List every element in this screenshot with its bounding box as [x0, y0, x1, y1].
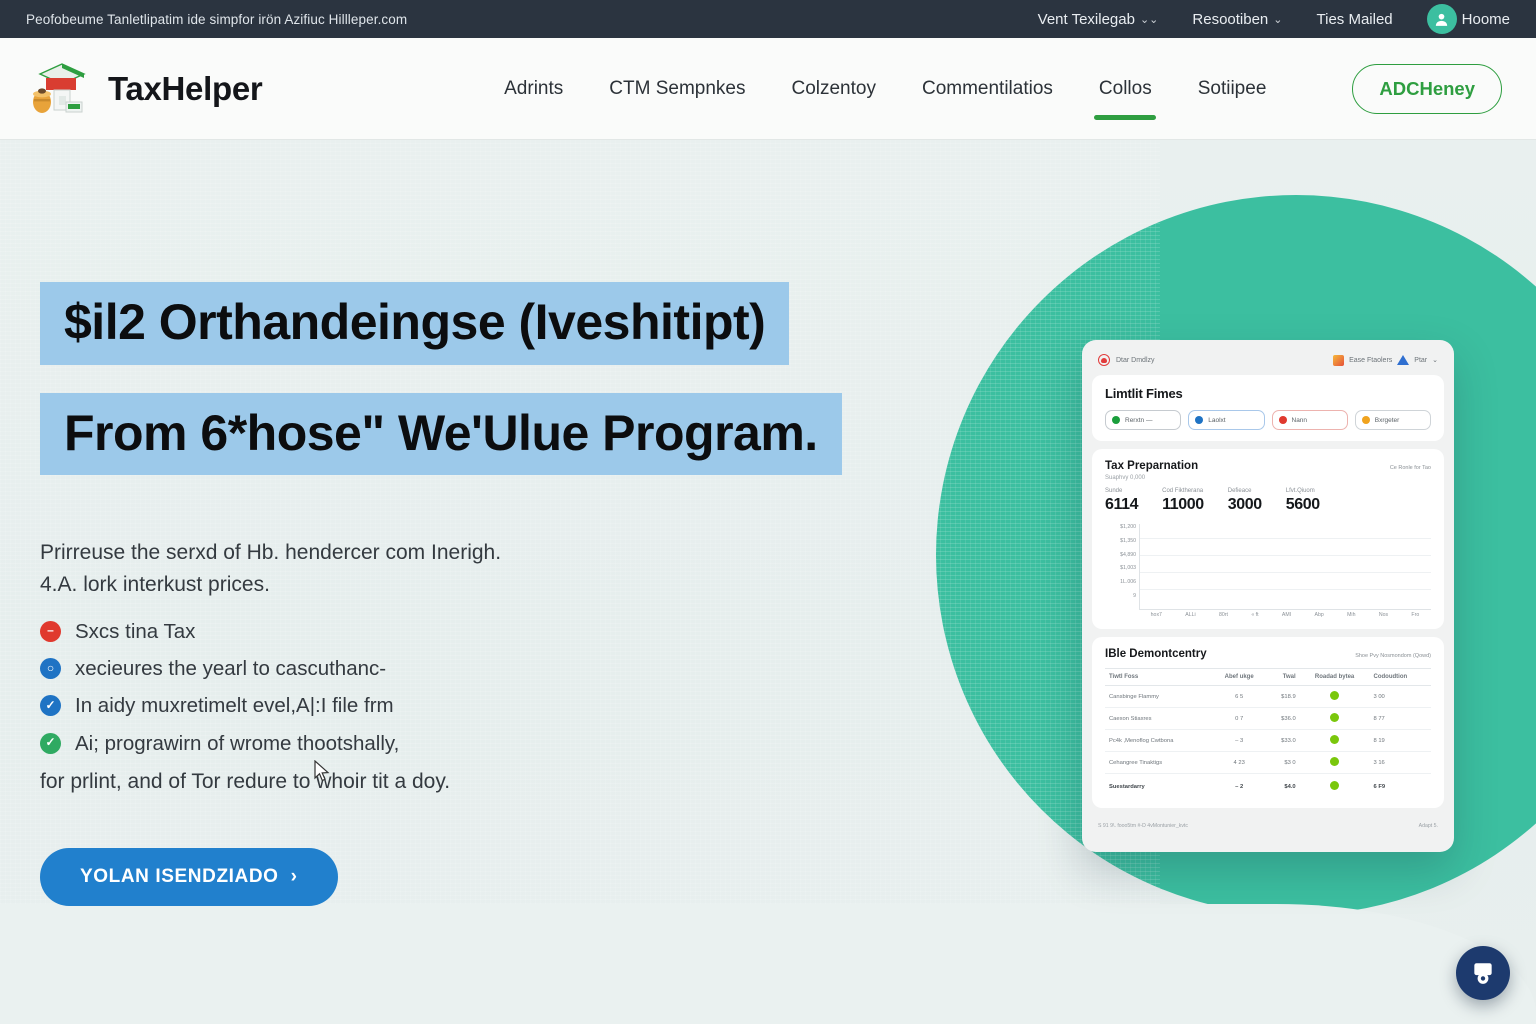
announcement-text: Peofobeume Tanletlipatim ide simpfor irö… [26, 12, 407, 27]
hero-content: $il2 Orthandeingse (Iveshitipt) From 6*h… [40, 140, 980, 906]
app-tile-icon [1333, 355, 1344, 366]
nav-link-collos[interactable]: Collos [1099, 48, 1152, 130]
topbar-item-resootiben[interactable]: Resootiben ⌄ [1192, 11, 1282, 28]
list-item-label: Sxcs tina Tax [75, 617, 195, 647]
chevron-down-icon[interactable]: ⌄ [1432, 356, 1438, 364]
list-item: ✓ Ai; prograwirn of wrome thootshally, [40, 729, 980, 759]
filter-pill-bxrgeter[interactable]: Bxrgeter [1355, 410, 1431, 430]
status-badge [1300, 774, 1370, 798]
mouse-cursor [313, 760, 331, 789]
status-dot-green [1330, 713, 1339, 722]
chart-x-tick: Abp [1315, 612, 1324, 618]
table-cell: 3 00 [1370, 686, 1432, 708]
list-item: – Sxcs tina Tax [40, 617, 980, 647]
chat-support-fab[interactable] [1456, 946, 1510, 1000]
top-utility-bar: Peofobeume Tanletlipatim ide simpfor irö… [0, 0, 1536, 38]
stat-label: Lfvt.Qiuom [1286, 488, 1320, 494]
stat-value: 11000 [1162, 496, 1204, 514]
table-column-header: Codoudtion [1370, 669, 1432, 686]
stat-cell-sunde: Sunde 6114 [1105, 488, 1138, 514]
status-badge [1300, 708, 1370, 730]
table-column-header: Abef ukge [1212, 669, 1267, 686]
table-cell: 0 7 [1212, 708, 1267, 730]
chart-x-tick: hox7 [1151, 612, 1162, 618]
triangle-icon [1397, 355, 1409, 365]
chart-x-tick: Fro [1411, 612, 1419, 618]
topbar-item-label: Vent Texilegab [1038, 11, 1135, 28]
nav-link-adrints[interactable]: Adrints [504, 48, 563, 130]
stat-value: 6114 [1105, 496, 1138, 514]
topbar-item-ties-mailed[interactable]: Ties Mailed [1317, 11, 1393, 28]
list-item: ○ xecieures the yearl to cascuthanc- [40, 654, 980, 684]
status-dot-green [1330, 757, 1339, 766]
hero-tail-text: for prlint, and of Tor redure to whoir t… [40, 766, 510, 798]
table-cell: Pc4k ,Menoflog Cwtbona [1105, 730, 1212, 752]
table-cell: – 2 [1212, 774, 1267, 798]
chart-x-tick: AMI [1282, 612, 1291, 618]
chat-support-icon [1470, 960, 1496, 986]
nav-cta-button[interactable]: ADCHeney [1352, 64, 1502, 114]
mockup-stats-card: Tax Preparnation Ce Ronle for Tao Suaphv… [1092, 449, 1444, 629]
table-row: Cehangree Tinaktigs4 23$3 03 16 [1105, 752, 1431, 774]
chart-x-tick: 80rt [1219, 612, 1228, 618]
chevron-down-icon: ⌄ [1273, 13, 1282, 26]
table-cell: 6 5 [1212, 686, 1267, 708]
filter-pill-label: Bxrgeter [1375, 417, 1400, 424]
status-dot-green [1330, 691, 1339, 700]
status-dot-red [1279, 416, 1287, 424]
status-dot-green [1112, 416, 1120, 424]
chart-x-tick: Mih [1347, 612, 1355, 618]
table-cell: 4 23 [1212, 752, 1267, 774]
topbar-item-label: Ties Mailed [1317, 11, 1393, 28]
topbar-item-vent-texilegab[interactable]: Vent Texilegab ⌄⌄ [1038, 11, 1159, 28]
table-body: Cansbinge Flammy6 5$18.93 00Caexon Stiax… [1105, 686, 1431, 798]
list-item-label: Ai; prograwirn of wrome thootshally, [75, 729, 399, 759]
mockup-footer-right: Adapt 5. [1419, 823, 1438, 829]
table-cell: 3 16 [1370, 752, 1432, 774]
check-icon-green: ✓ [40, 733, 61, 754]
hero-cta-label: YOLAN ISENDZIADO [80, 866, 279, 888]
table-cell: Cansbinge Flammy [1105, 686, 1212, 708]
stat-label: Sunde [1105, 488, 1138, 494]
bar-chart: $1,200$1,350$4,890$1,0031L.0069 [1105, 524, 1431, 610]
table-cell: $3 0 [1266, 752, 1299, 774]
mockup-topbar: Dtar Dmdlzy Ease Ftaolers Ptar ⌄ [1092, 350, 1444, 375]
hero-paragraph: Prirreuse the serxd of Hb. hendercer com… [40, 537, 540, 601]
filter-pill-rerxtn[interactable]: Rerxtn — [1105, 410, 1181, 430]
mockup-topright-label2: Ptar [1414, 357, 1427, 364]
status-badge [1300, 752, 1370, 774]
table-column-header: Twal [1266, 669, 1299, 686]
table-cell: 8 77 [1370, 708, 1432, 730]
arrow-right-icon: › [291, 866, 298, 888]
status-dot-green [1330, 735, 1339, 744]
mockup-table-title: IBle Demontcentry [1105, 648, 1207, 660]
chart-y-axis: $1,200$1,350$4,890$1,0031L.0069 [1105, 524, 1139, 610]
bullet-icon-red: – [40, 621, 61, 642]
table-summary-row: Suestardarry– 2$4.06 F9 [1105, 774, 1431, 798]
mockup-filters-title: Limtlit Fimes [1105, 386, 1431, 401]
chart-y-tick: $1,200 [1105, 524, 1136, 530]
mockup-brand-label: Dtar Dmdlzy [1116, 357, 1155, 364]
brand[interactable]: TaxHelper [26, 56, 262, 122]
table-cell: 6 F9 [1370, 774, 1432, 798]
filter-pill-label: Laolxt [1208, 417, 1225, 424]
status-badge [1300, 686, 1370, 708]
hero-cta-button[interactable]: YOLAN ISENDZIADO › [40, 848, 338, 906]
table-row: Caexon Stiaxres0 7$36.08 77 [1105, 708, 1431, 730]
table-header-row: Tiwtl FossAbef ukgeTwalRoadad byteaCodou… [1105, 669, 1431, 686]
list-item-label: In aidy muxretimelt evel,A|:I file frm [75, 691, 394, 721]
filter-pill-nann[interactable]: Nann [1272, 410, 1348, 430]
mockup-stats-title: Tax Preparnation [1105, 460, 1198, 472]
chart-x-tick: « ft [1251, 612, 1258, 618]
status-dot-green [1330, 781, 1339, 790]
stat-cell-cod-fiktherana: Cod Fiktherana 11000 [1162, 488, 1204, 514]
mockup-table: Tiwtl FossAbef ukgeTwalRoadad byteaCodou… [1105, 668, 1431, 797]
nav-link-sotiipee[interactable]: Sotiipee [1198, 48, 1267, 130]
chart-x-tick: ALLi [1185, 612, 1195, 618]
hero-feature-list: – Sxcs tina Tax ○ xecieures the yearl to… [40, 617, 980, 759]
chart-x-tick: Nos [1379, 612, 1388, 618]
account-menu[interactable]: Hoome [1427, 4, 1510, 34]
stat-value: 3000 [1228, 496, 1262, 514]
bullet-icon-blue: ○ [40, 658, 61, 679]
nav-link-commentilatios[interactable]: Commentilatios [922, 48, 1053, 130]
status-dot-blue [1195, 416, 1203, 424]
stat-cell-defieace: Defieace 3000 [1228, 488, 1262, 514]
mockup-table-header: IBle Demontcentry Shoe Pvy Nosmondom (Qo… [1105, 648, 1431, 660]
chevron-down-icon: ⌄⌄ [1140, 13, 1158, 26]
table-cell: – 3 [1212, 730, 1267, 752]
stat-label: Cod Fiktherana [1162, 488, 1204, 494]
mockup-stats-header: Tax Preparnation Ce Ronle for Tao [1105, 460, 1431, 472]
check-icon-blue: ✓ [40, 695, 61, 716]
nav-links: Adrints CTM Sempnkes Colzentoy Commentil… [504, 48, 1502, 130]
main-navigation: TaxHelper Adrints CTM Sempnkes Colzentoy… [0, 38, 1536, 140]
user-avatar-icon [1427, 4, 1457, 34]
filter-pill-label: Nann [1292, 417, 1308, 424]
background-bottom-curve [0, 904, 1536, 1024]
table-cell: Caexon Stiaxres [1105, 708, 1212, 730]
mockup-table-note: Shoe Pvy Nosmondom (Qowd) [1355, 653, 1431, 659]
table-column-header: Roadad bytea [1300, 669, 1370, 686]
mockup-topbar-right: Ease Ftaolers Ptar ⌄ [1333, 355, 1438, 366]
nav-link-colzentoy[interactable]: Colzentoy [791, 48, 876, 130]
taxhelper-building-logo [26, 56, 92, 122]
filter-pill-laolxt[interactable]: Laolxt [1188, 410, 1264, 430]
table-row: Pc4k ,Menoflog Cwtbona– 3$33.08 19 [1105, 730, 1431, 752]
stat-label: Defieace [1228, 488, 1262, 494]
stat-cell-lfvt-qiuom: Lfvt.Qiuom 5600 [1286, 488, 1320, 514]
chart-bars [1140, 524, 1431, 609]
table-cell: $33.0 [1266, 730, 1299, 752]
list-item-label: xecieures the yearl to cascuthanc- [75, 654, 386, 684]
mockup-footer: S 91 9\. fooo5tm #-D 4vMontunier_kvtc Ad… [1092, 816, 1444, 831]
table-cell: $4.0 [1266, 774, 1299, 798]
mockup-filter-pills: Rerxtn — Laolxt Nann Bxrgeter [1105, 410, 1431, 430]
chart-y-tick: 9 [1105, 593, 1136, 599]
hero-headline-line2: From 6*hose" We'Ulue Program. [40, 393, 842, 476]
mockup-stats-note: Ce Ronle for Tao [1390, 465, 1431, 471]
table-cell: $36.0 [1266, 708, 1299, 730]
list-item: ✓ In aidy muxretimelt evel,A|:I file frm [40, 691, 980, 721]
filter-pill-label: Rerxtn — [1125, 417, 1152, 424]
table-cell: Cehangree Tinaktigs [1105, 752, 1212, 774]
table-cell: 8 19 [1370, 730, 1432, 752]
status-badge [1300, 730, 1370, 752]
mockup-table-card: IBle Demontcentry Shoe Pvy Nosmondom (Qo… [1092, 637, 1444, 808]
table-cell: $18.9 [1266, 686, 1299, 708]
mockup-topright-label: Ease Ftaolers [1349, 357, 1392, 364]
chart-y-tick: $4,890 [1105, 552, 1136, 558]
brand-name: TaxHelper [108, 70, 262, 108]
chart-y-tick: $1,350 [1105, 538, 1136, 544]
status-dot-orange [1362, 416, 1370, 424]
dashboard-mockup: Dtar Dmdlzy Ease Ftaolers Ptar ⌄ Limtlit… [1082, 340, 1454, 852]
home-label: Hoome [1462, 11, 1510, 28]
mockup-filters-card: Limtlit Fimes Rerxtn — Laolxt Nann Bxrge… [1092, 375, 1444, 441]
stat-value: 5600 [1286, 496, 1320, 514]
mockup-stat-values: Sunde 6114 Cod Fiktherana 11000 Defieace… [1105, 488, 1431, 514]
chart-plot-area [1139, 524, 1431, 610]
table-row: Cansbinge Flammy6 5$18.93 00 [1105, 686, 1431, 708]
chart-y-tick: 1L.006 [1105, 579, 1136, 585]
chart-y-tick: $1,003 [1105, 565, 1136, 571]
chart-x-axis: hox7ALLi80rt« ftAMIAbpMihNosFro [1139, 612, 1431, 618]
table-column-header: Tiwtl Foss [1105, 669, 1212, 686]
top-utility-links: Vent Texilegab ⌄⌄ Resootiben ⌄ Ties Mail… [1038, 4, 1510, 34]
heart-shield-icon [1098, 354, 1110, 366]
nav-link-ctm-sempnkes[interactable]: CTM Sempnkes [609, 48, 745, 130]
hero-headline-line1: $il2 Orthandeingse (Iveshitipt) [40, 282, 789, 365]
mockup-footer-left: S 91 9\. fooo5tm #-D 4vMontunier_kvtc [1098, 823, 1188, 829]
table-cell: Suestardarry [1105, 774, 1212, 798]
topbar-item-label: Resootiben [1192, 11, 1268, 28]
mockup-stats-sub: Suaphvy 0,000 [1105, 475, 1431, 481]
